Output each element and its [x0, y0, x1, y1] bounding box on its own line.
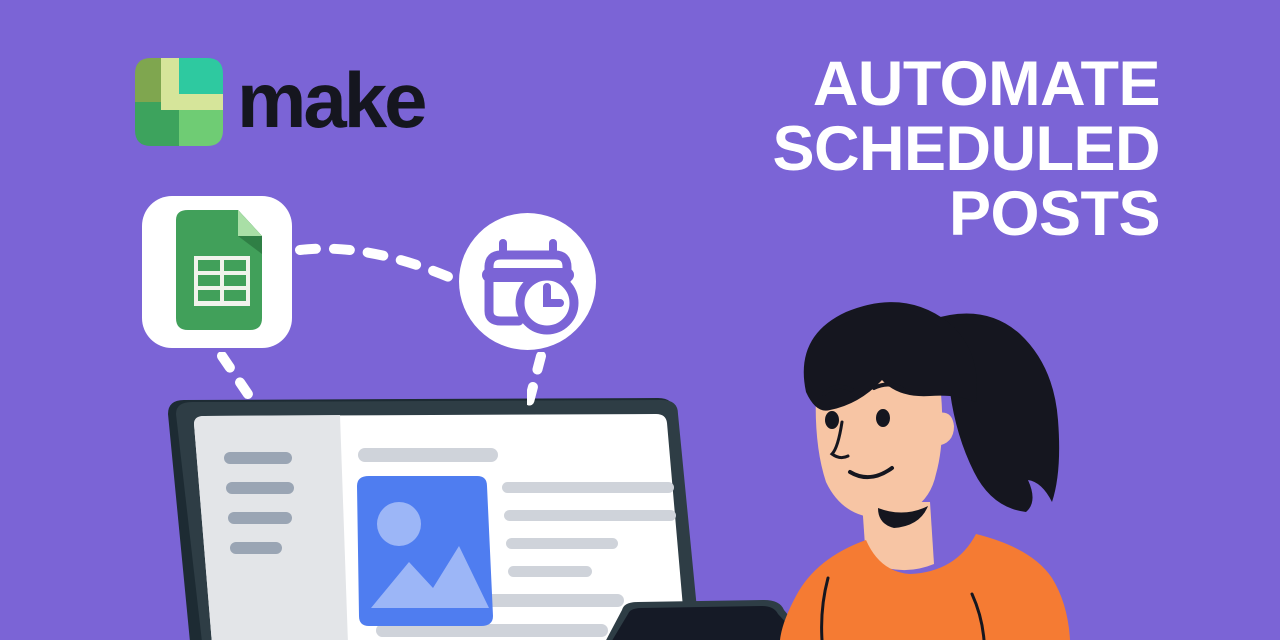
content-bar — [504, 510, 676, 521]
person-eye-right — [876, 409, 890, 427]
content-bar — [508, 566, 592, 577]
headline-line-2: SCHEDULED — [620, 117, 1160, 182]
laptop-screen-sidebar — [194, 415, 348, 640]
sheets-grid — [194, 256, 250, 306]
image-placeholder — [357, 476, 493, 626]
person-illustration — [770, 296, 1120, 640]
google-sheets-icon[interactable] — [142, 196, 292, 348]
person-eye-left — [825, 411, 839, 429]
make-folder-logo — [135, 58, 223, 146]
content-bar — [502, 482, 674, 493]
brand-lockup: make — [135, 58, 425, 146]
content-bar — [506, 538, 618, 549]
make-wordmark: make — [237, 61, 425, 139]
person-ear — [934, 413, 954, 447]
sidebar-bar — [224, 452, 292, 464]
headline: AUTOMATE SCHEDULED POSTS — [620, 52, 1160, 247]
calendar-clock-icon[interactable] — [459, 213, 596, 350]
content-bar — [358, 448, 498, 462]
sheets-fold — [238, 210, 262, 236]
sidebar-bar — [226, 482, 294, 494]
image-placeholder-sun — [377, 502, 421, 546]
headline-line-3: POSTS — [620, 182, 1160, 247]
headline-line-1: AUTOMATE — [620, 52, 1160, 117]
promo-graphic-canvas: make AUTOMATE SCHEDULED POSTS — [0, 0, 1280, 640]
sidebar-bar — [228, 512, 292, 524]
sidebar-bar — [230, 542, 282, 554]
